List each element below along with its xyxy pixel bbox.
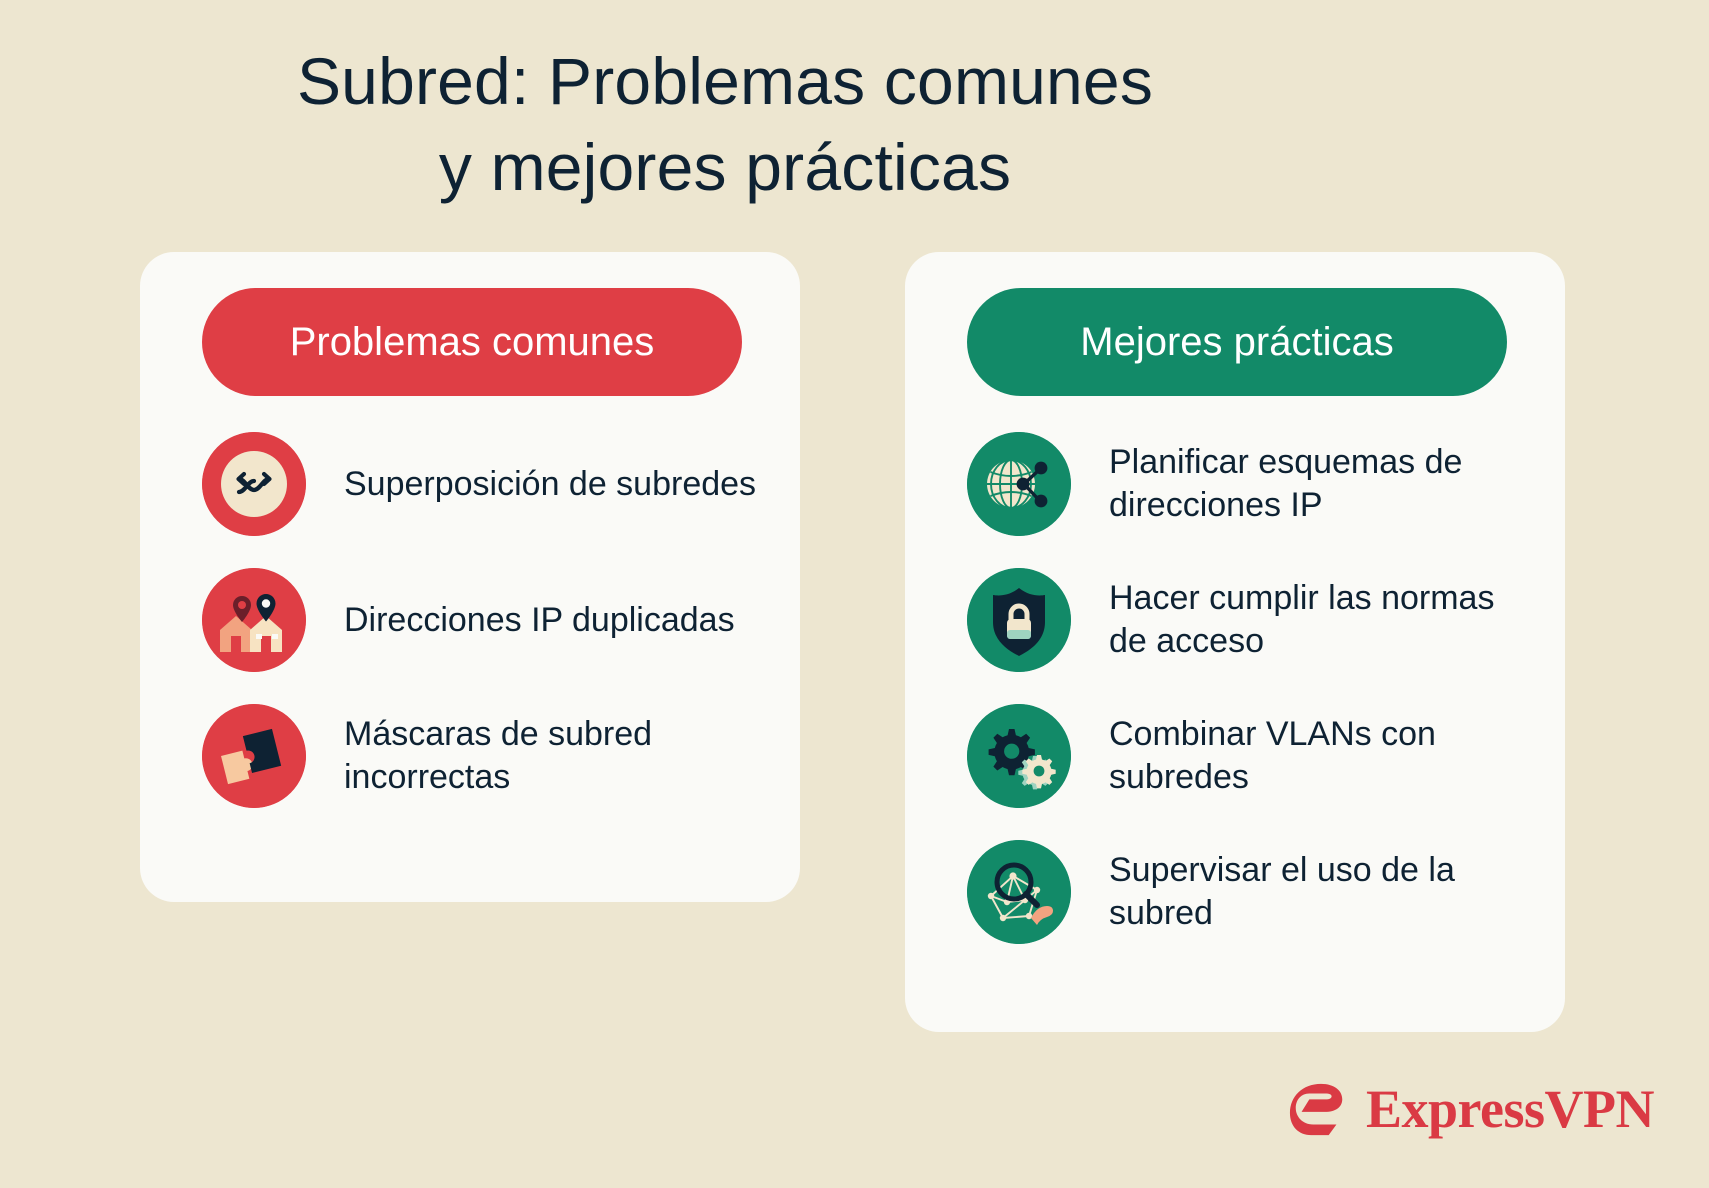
page-title-line-1: Subred: Problemas comunes: [0, 38, 1450, 124]
common-problems-card: Problemas comunes Superposición de subre…: [140, 252, 800, 902]
gears-icon: [967, 704, 1071, 808]
houses-map-pins-icon: [202, 568, 306, 672]
shield-lock-icon: [967, 568, 1071, 672]
list-item-label: Superposición de subredes: [344, 463, 756, 506]
network-magnifier-icon: [967, 840, 1071, 944]
list-item: Superposición de subredes: [202, 432, 760, 536]
list-item: Hacer cumplir las normas de acceso: [967, 568, 1525, 672]
list-item: Direcciones IP duplicadas: [202, 568, 760, 672]
list-item-label: Máscaras de subred incorrectas: [344, 713, 760, 799]
common-problems-header-label: Problemas comunes: [290, 322, 655, 362]
common-problems-header-pill: Problemas comunes: [202, 288, 742, 396]
crossing-arrows-icon: [202, 432, 306, 536]
expressvpn-wordmark: ExpressVPN: [1366, 1082, 1654, 1136]
list-item: Planificar esquemas de direcciones IP: [967, 432, 1525, 536]
common-problems-list: Superposición de subredes: [202, 432, 760, 840]
puzzle-pieces-icon: [202, 704, 306, 808]
list-item: Máscaras de subred incorrectas: [202, 704, 760, 808]
page-title-line-2: y mejores prácticas: [0, 124, 1450, 210]
best-practices-header-label: Mejores prácticas: [1080, 322, 1393, 362]
page-title: Subred: Problemas comunes y mejores prác…: [0, 38, 1450, 210]
list-item-label: Direcciones IP duplicadas: [344, 599, 735, 642]
globe-network-icon: [967, 432, 1071, 536]
best-practices-list: Planificar esquemas de direcciones IP Ha…: [967, 432, 1525, 976]
expressvpn-logo[interactable]: ExpressVPN: [1288, 1078, 1654, 1140]
list-item-label: Supervisar el uso de la subred: [1109, 849, 1525, 935]
list-item-label: Hacer cumplir las normas de acceso: [1109, 577, 1525, 663]
list-item-label: Planificar esquemas de direcciones IP: [1109, 441, 1525, 527]
list-item-label: Combinar VLANs con subredes: [1109, 713, 1525, 799]
best-practices-card: Mejores prácticas: [905, 252, 1565, 1032]
best-practices-header-pill: Mejores prácticas: [967, 288, 1507, 396]
list-item: Combinar VLANs con subredes: [967, 704, 1525, 808]
list-item: Supervisar el uso de la subred: [967, 840, 1525, 944]
expressvpn-e-mark-icon: [1288, 1078, 1350, 1140]
